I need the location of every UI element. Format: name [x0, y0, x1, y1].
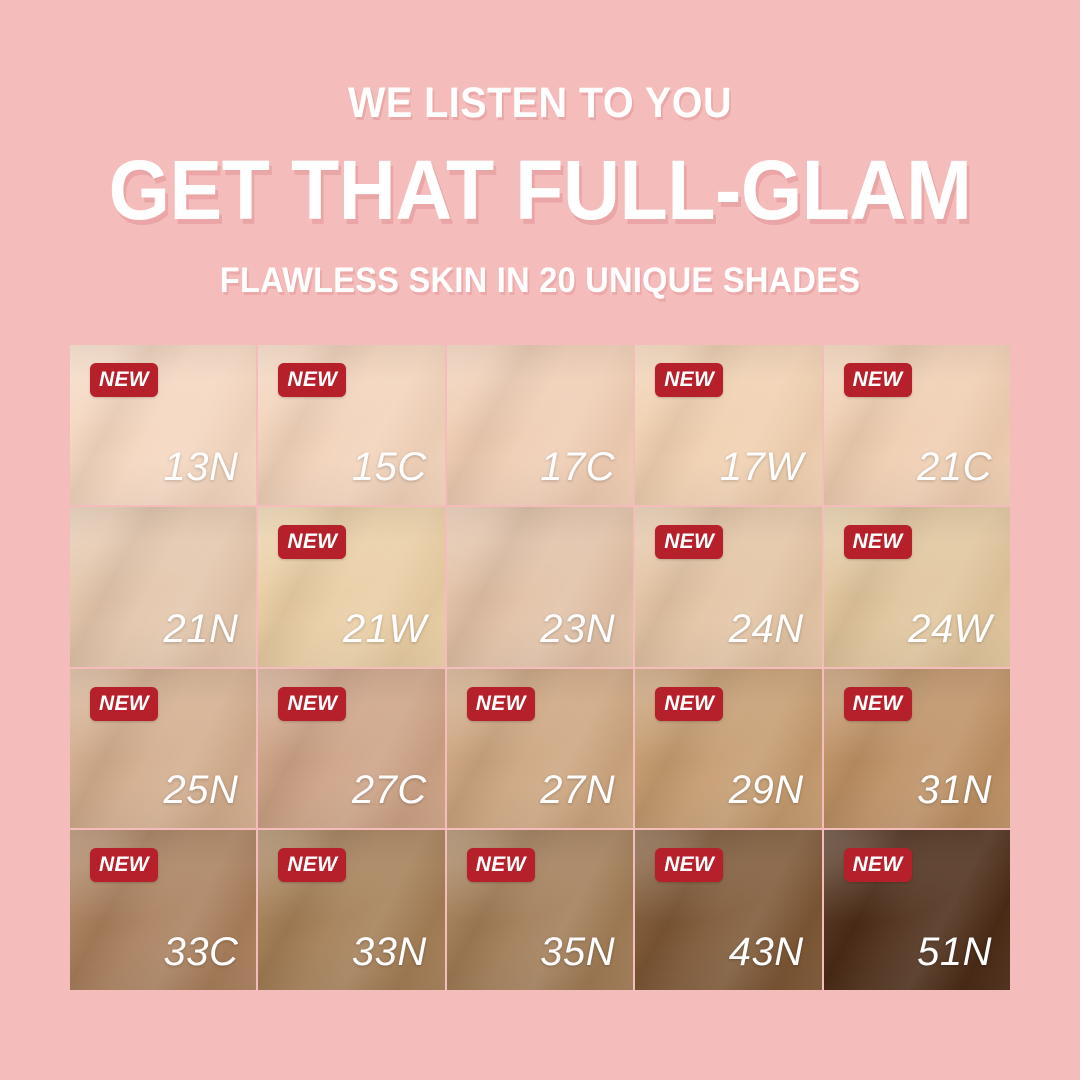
new-badge: NEW: [655, 687, 723, 721]
new-badge: NEW: [844, 687, 912, 721]
new-badge: NEW: [655, 363, 723, 397]
shade-swatch[interactable]: NEW51N: [824, 830, 1010, 990]
shade-code-label: 17C: [540, 445, 615, 489]
shade-code-label: 27C: [352, 768, 427, 812]
shade-swatch[interactable]: NEW27C: [258, 669, 444, 829]
shade-code-label: 31N: [917, 768, 992, 812]
shade-code-label: 35N: [540, 930, 615, 974]
shade-code-label: 24N: [729, 607, 804, 651]
shade-swatch[interactable]: NEW21W: [258, 507, 444, 667]
shade-swatch[interactable]: NEW17W: [635, 345, 821, 505]
shade-code-label: 21C: [917, 445, 992, 489]
shade-swatch[interactable]: NEW21C: [824, 345, 1010, 505]
headline-eyebrow: WE LISTEN TO YOU: [43, 78, 1037, 128]
shade-swatch[interactable]: NEW27N: [447, 669, 633, 829]
shade-code-label: 15C: [352, 445, 427, 489]
shade-swatch[interactable]: NEW25N: [70, 669, 256, 829]
new-badge: NEW: [467, 687, 535, 721]
shade-code-label: 43N: [729, 930, 804, 974]
shade-swatch[interactable]: NEW15C: [258, 345, 444, 505]
shade-code-label: 23N: [540, 607, 615, 651]
shade-code-label: 33N: [352, 930, 427, 974]
promo-page: WE LISTEN TO YOU GET THAT FULL-GLAM FLAW…: [0, 0, 1080, 1080]
shade-swatch[interactable]: NEW24N: [635, 507, 821, 667]
new-badge: NEW: [655, 525, 723, 559]
new-badge: NEW: [844, 363, 912, 397]
shade-code-label: 29N: [729, 768, 804, 812]
shade-swatch-grid: NEW13NNEW15C17CNEW17WNEW21C21NNEW21W23NN…: [70, 345, 1010, 990]
shade-swatch[interactable]: NEW33C: [70, 830, 256, 990]
new-badge: NEW: [90, 363, 158, 397]
shade-swatch[interactable]: NEW35N: [447, 830, 633, 990]
shade-code-label: 25N: [164, 768, 239, 812]
shade-swatch[interactable]: 23N: [447, 507, 633, 667]
new-badge: NEW: [90, 848, 158, 882]
shade-swatch[interactable]: NEW29N: [635, 669, 821, 829]
shade-code-label: 13N: [164, 445, 239, 489]
new-badge: NEW: [90, 687, 158, 721]
new-badge: NEW: [278, 848, 346, 882]
headline-block: WE LISTEN TO YOU GET THAT FULL-GLAM FLAW…: [0, 78, 1080, 302]
shade-code-label: 21W: [343, 607, 427, 651]
new-badge: NEW: [655, 848, 723, 882]
shade-code-label: 17W: [720, 445, 804, 489]
new-badge: NEW: [467, 848, 535, 882]
shade-swatch[interactable]: 17C: [447, 345, 633, 505]
shade-code-label: 24W: [908, 607, 992, 651]
new-badge: NEW: [844, 848, 912, 882]
shade-swatch[interactable]: 21N: [70, 507, 256, 667]
shade-code-label: 27N: [540, 768, 615, 812]
page-title: GET THAT FULL-GLAM: [32, 142, 1047, 238]
shade-swatch[interactable]: NEW31N: [824, 669, 1010, 829]
shade-swatch[interactable]: NEW24W: [824, 507, 1010, 667]
new-badge: NEW: [278, 363, 346, 397]
shade-swatch[interactable]: NEW13N: [70, 345, 256, 505]
new-badge: NEW: [844, 525, 912, 559]
shade-code-label: 33C: [164, 930, 239, 974]
new-badge: NEW: [278, 525, 346, 559]
shade-swatch[interactable]: NEW33N: [258, 830, 444, 990]
new-badge: NEW: [278, 687, 346, 721]
headline-subtitle: FLAWLESS SKIN IN 20 UNIQUE SHADES: [38, 260, 1042, 302]
shade-code-label: 51N: [917, 930, 992, 974]
shade-swatch[interactable]: NEW43N: [635, 830, 821, 990]
shade-code-label: 21N: [164, 607, 239, 651]
